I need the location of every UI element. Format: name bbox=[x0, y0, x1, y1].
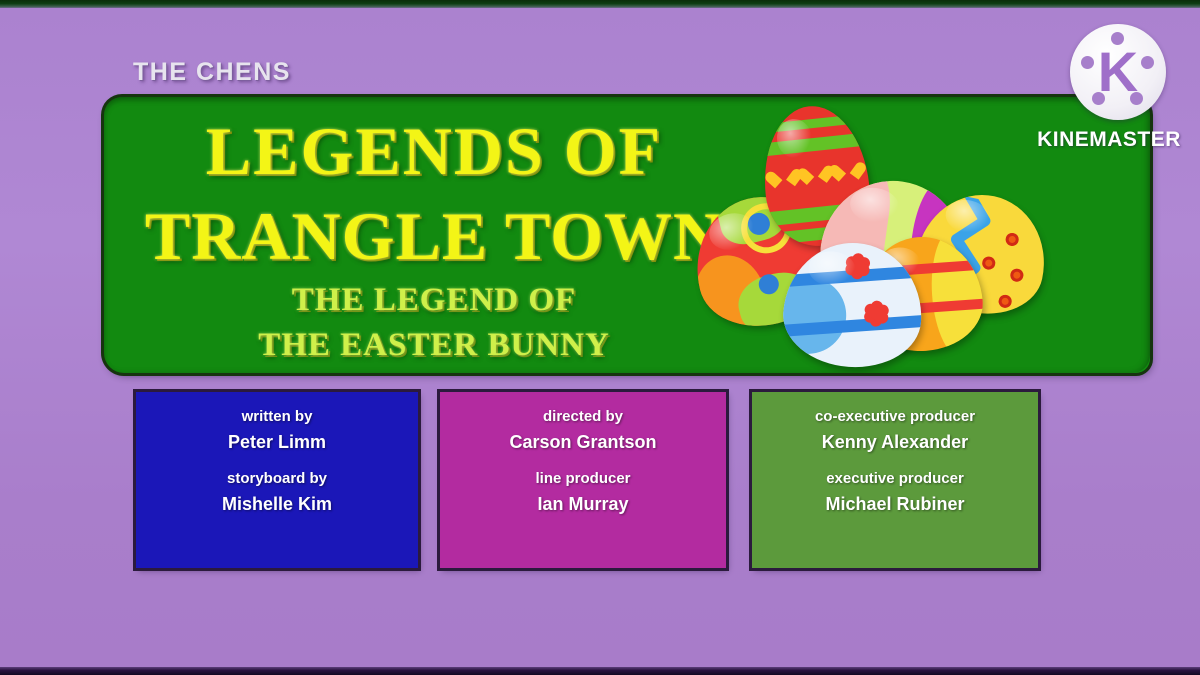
kinemaster-letter: K bbox=[1070, 24, 1166, 120]
credit-name: Kenny Alexander bbox=[752, 432, 1038, 453]
letterbox-bottom bbox=[0, 667, 1200, 675]
title-line-1: LEGENDS OF bbox=[104, 117, 764, 185]
credit-name: Michael Rubiner bbox=[752, 494, 1038, 515]
credit-box-written: written by Peter Limm storyboard by Mish… bbox=[136, 392, 418, 568]
credit-name: Ian Murray bbox=[440, 494, 726, 515]
credit-role: directed by bbox=[440, 408, 726, 425]
credit-role: executive producer bbox=[752, 470, 1038, 487]
title-line-2: TRANGLE TOWN bbox=[104, 202, 764, 270]
studio-name: THE CHENS bbox=[133, 58, 291, 87]
credit-name: Carson Grantson bbox=[440, 432, 726, 453]
kinemaster-label: KINEMASTER bbox=[1034, 128, 1184, 152]
credit-box-directed: directed by Carson Grantson line produce… bbox=[440, 392, 726, 568]
easter-eggs-illustration bbox=[690, 103, 1050, 368]
subtitle-line-1: THE LEGEND OF bbox=[104, 284, 764, 317]
credit-role: line producer bbox=[440, 470, 726, 487]
video-frame: THE CHENS LEGENDS OF TRANGLE TOWN THE LE… bbox=[0, 0, 1200, 675]
letterbox-top bbox=[0, 0, 1200, 8]
credit-role: written by bbox=[136, 408, 418, 425]
title-banner: LEGENDS OF TRANGLE TOWN THE LEGEND OF TH… bbox=[104, 97, 1150, 373]
kinemaster-watermark: K KINEMASTER bbox=[1034, 24, 1184, 164]
credit-name: Mishelle Kim bbox=[136, 494, 418, 515]
credit-role: co-executive producer bbox=[752, 408, 1038, 425]
credit-box-producers: co-executive producer Kenny Alexander ex… bbox=[752, 392, 1038, 568]
credit-role: storyboard by bbox=[136, 470, 418, 487]
credit-name: Peter Limm bbox=[136, 432, 418, 453]
subtitle-line-2: THE EASTER BUNNY bbox=[104, 329, 764, 362]
kinemaster-disc-icon: K bbox=[1070, 24, 1166, 120]
